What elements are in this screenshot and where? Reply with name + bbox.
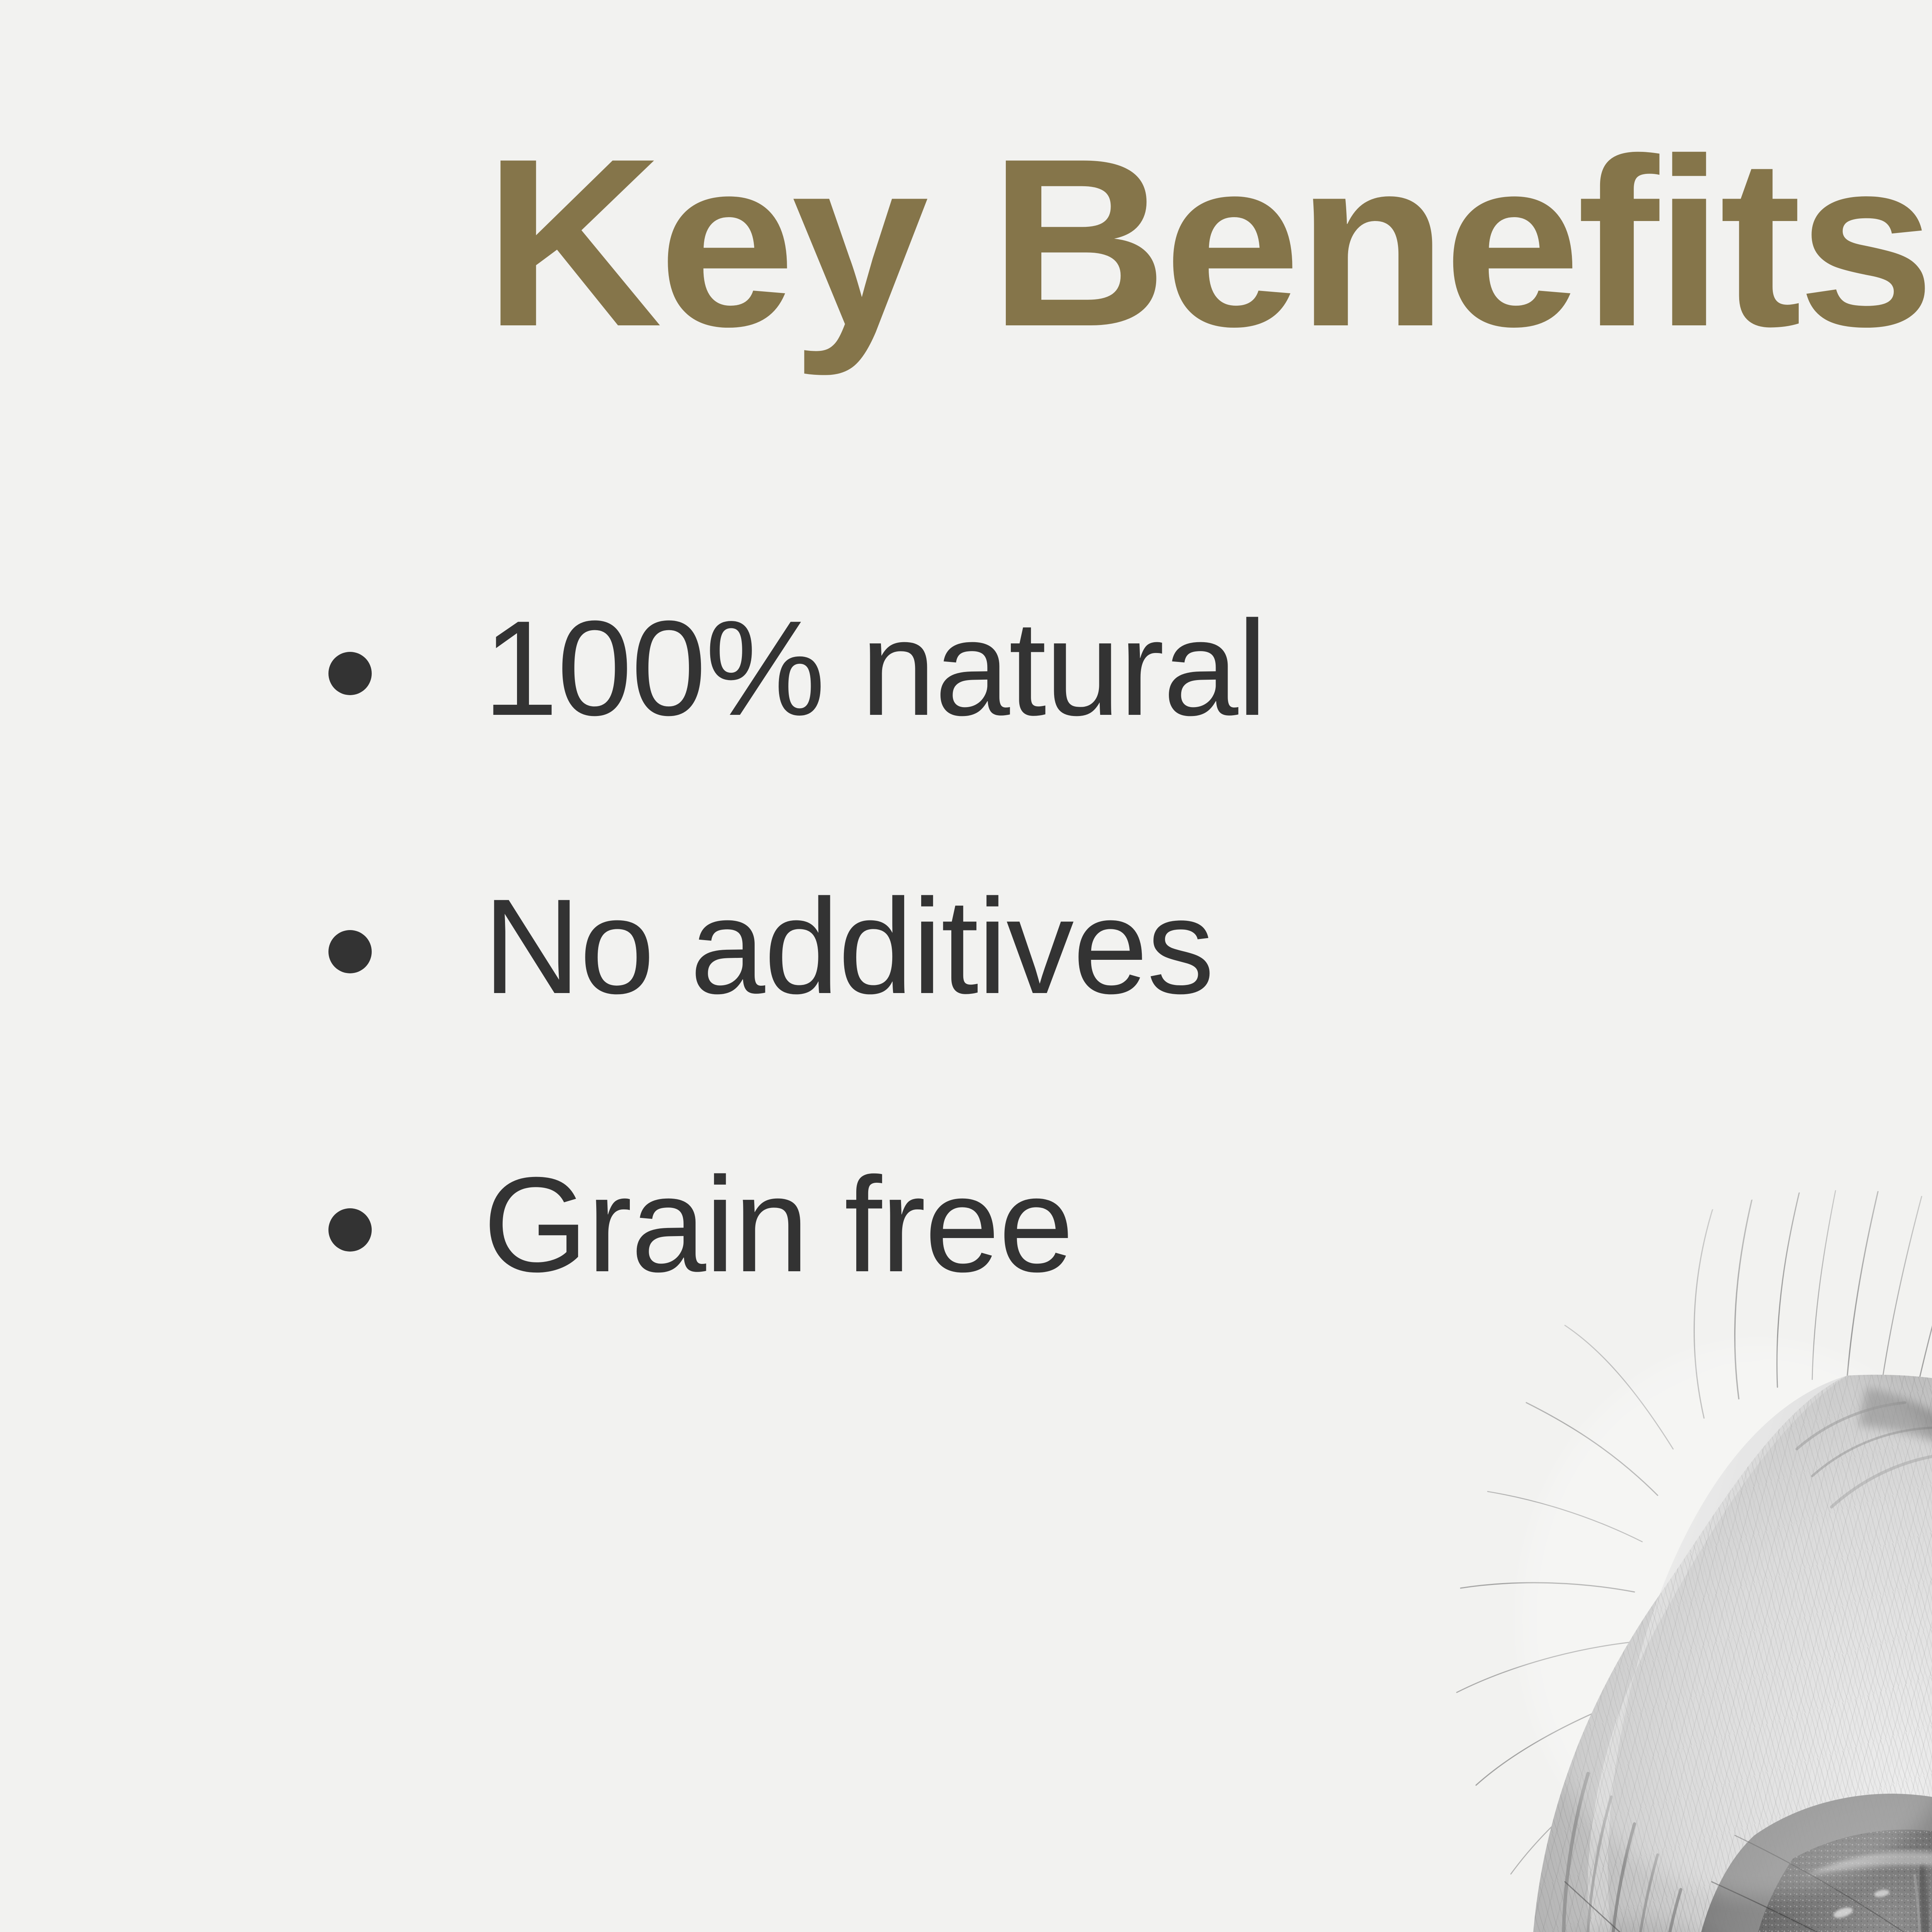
bullet-dot-icon xyxy=(328,930,372,973)
list-item: 100% natural xyxy=(325,601,1638,879)
benefit-label: No additives xyxy=(483,879,1213,1014)
benefits-list: 100% natural No additives Grain free xyxy=(325,601,1638,1435)
page-title: Key Benefits xyxy=(0,123,1932,362)
benefit-label: Grain free xyxy=(483,1157,1073,1293)
bullet-dot-icon xyxy=(328,652,372,695)
bullet-dot-icon xyxy=(328,1208,372,1252)
key-benefits-slide: Key Benefits 100% natural No additives G… xyxy=(0,0,1932,1932)
benefit-label: 100% natural xyxy=(483,601,1266,736)
list-item: No additives xyxy=(325,879,1638,1157)
list-item: Grain free xyxy=(325,1157,1638,1435)
